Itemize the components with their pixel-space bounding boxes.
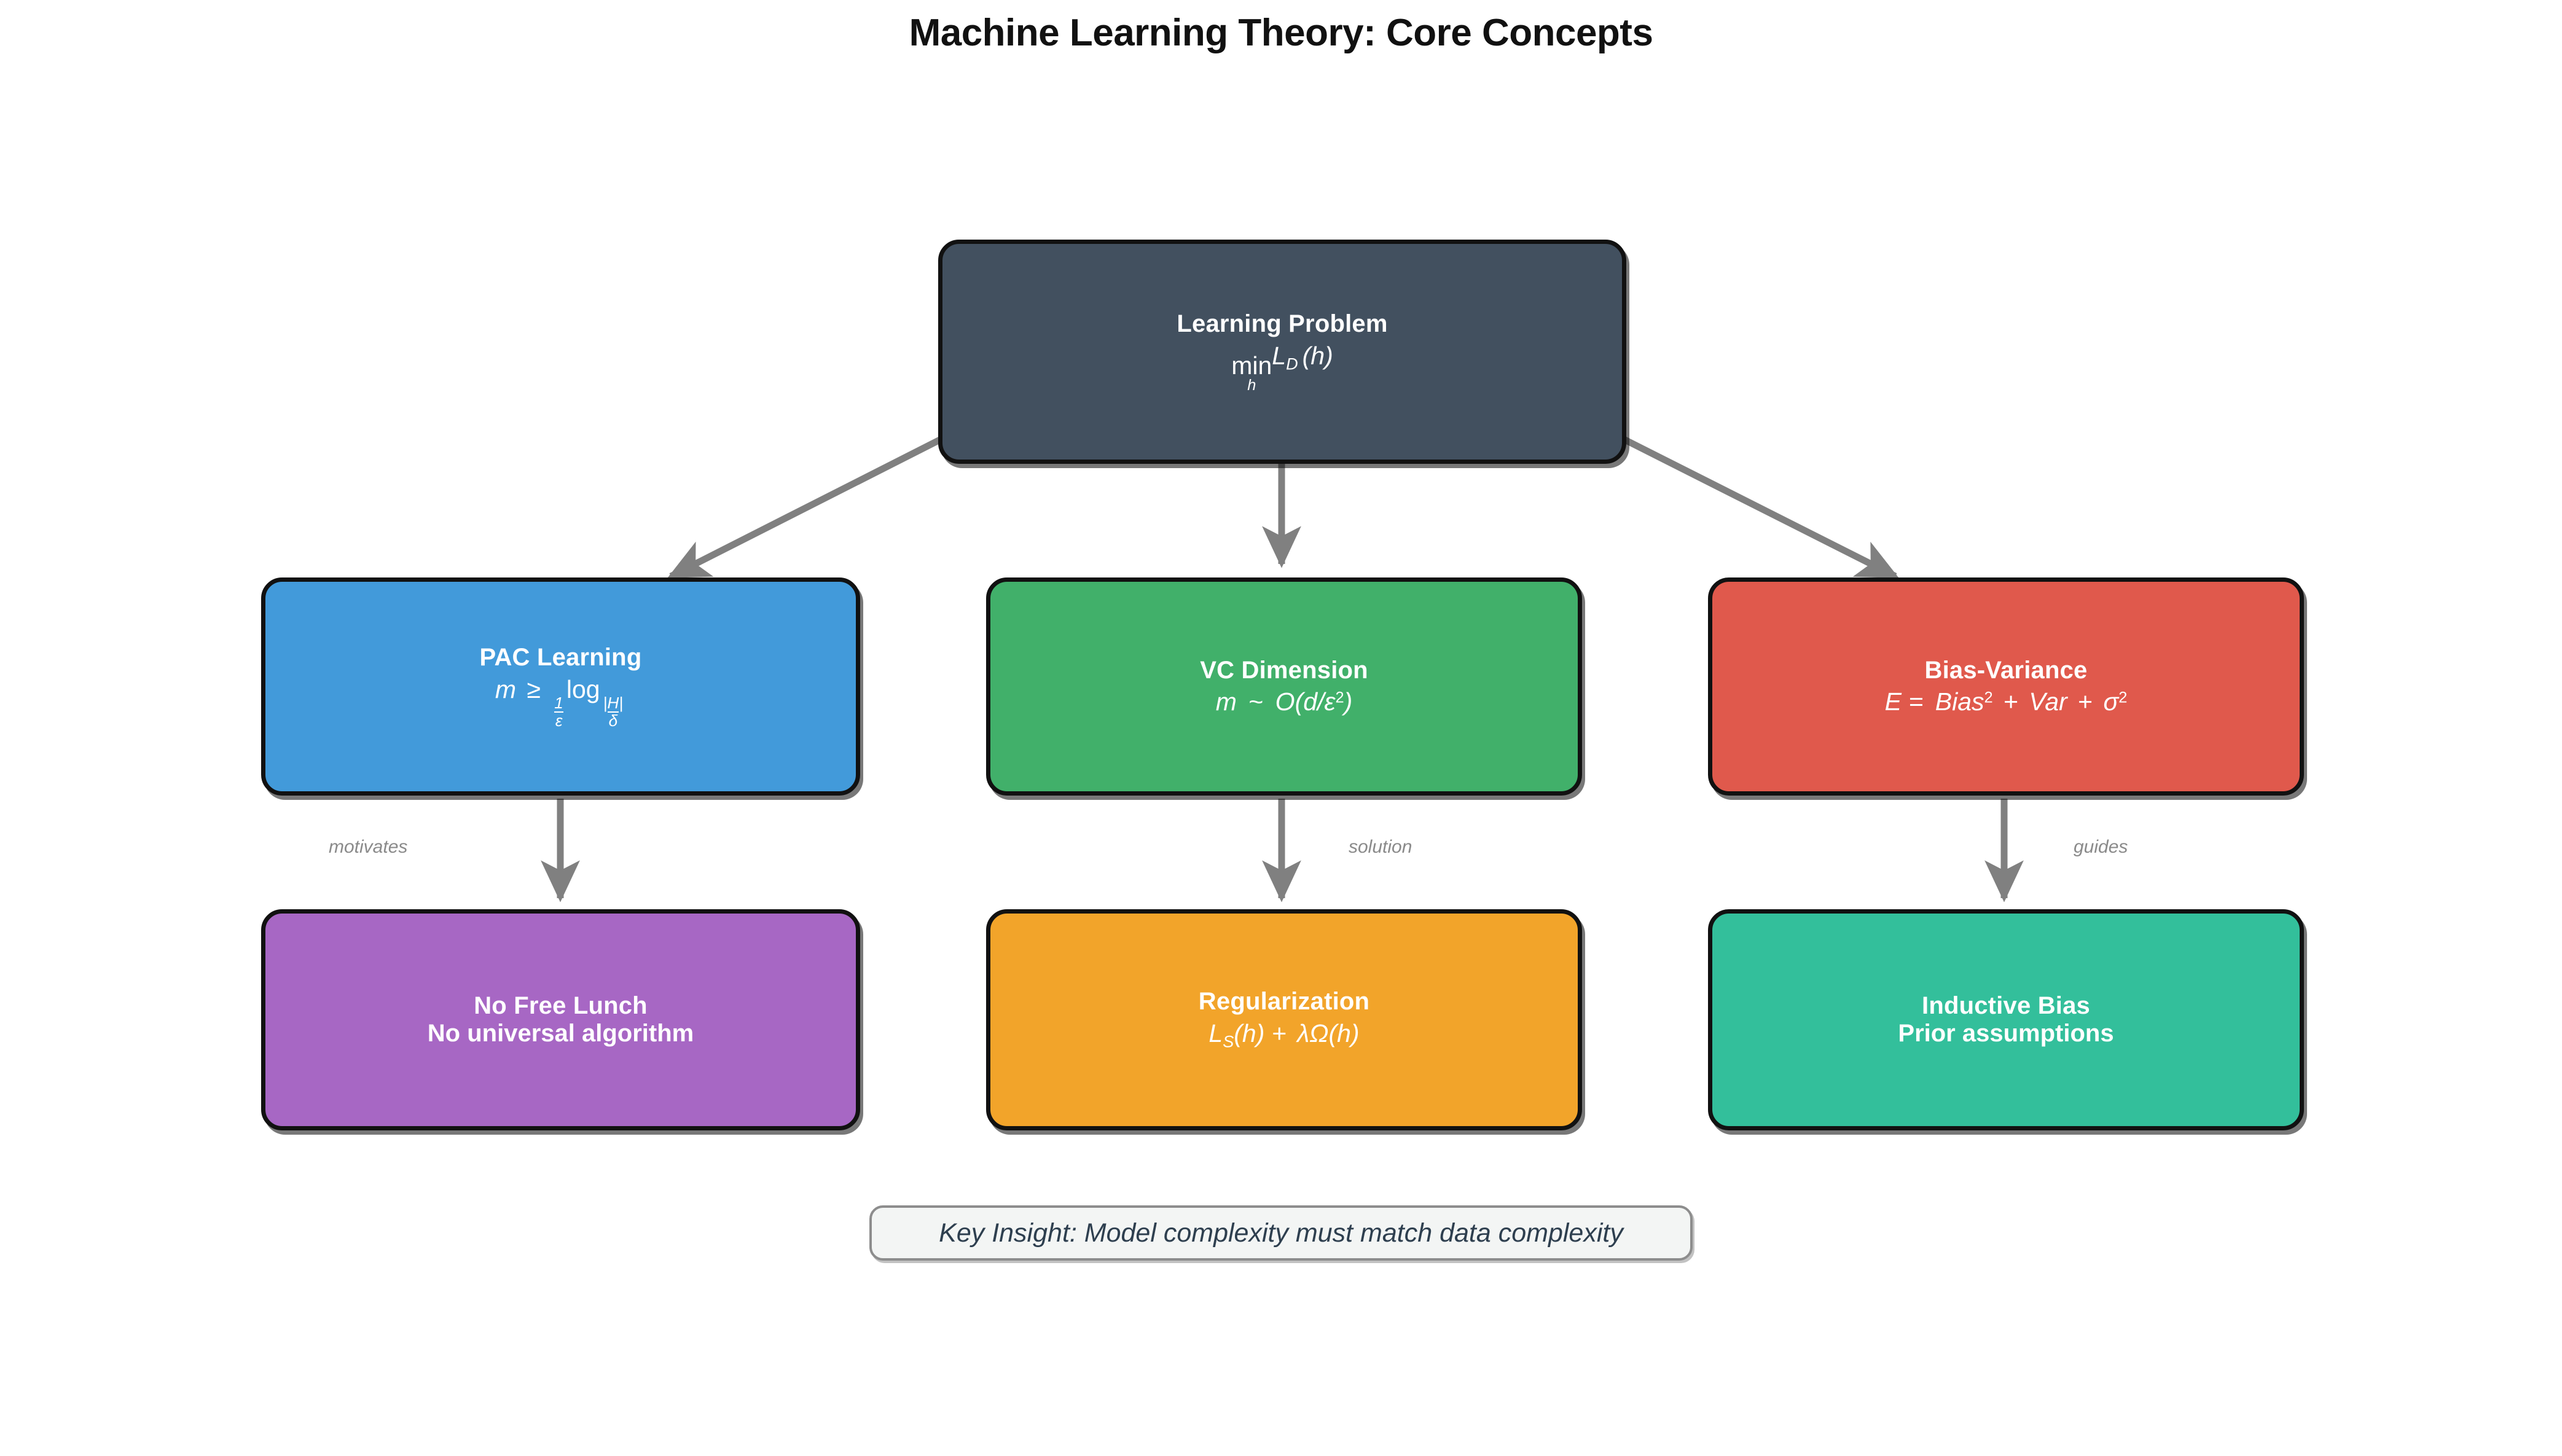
formula-log: log xyxy=(566,675,600,703)
node-subtitle: No universal algorithm xyxy=(428,1020,694,1047)
node-vc-dimension[interactable]: VC Dimension m ~ O(d/ε2) xyxy=(986,577,1582,796)
formula-L-subscript: D xyxy=(1286,354,1298,373)
formula-arg: (h) + xyxy=(1234,1019,1286,1047)
formula-exponent: 2 xyxy=(2118,689,2127,706)
diagram-canvas: Machine Learning Theory: Core Concepts L… xyxy=(0,0,2562,1456)
node-formula-regularization: LS(h) + λΩ(h) xyxy=(1209,1019,1359,1052)
formula-m: m xyxy=(495,675,516,703)
formula-fraction-h-delta: |H| δ xyxy=(602,695,625,729)
edge-label-guides: guides xyxy=(2074,837,2128,858)
formula-plus: + xyxy=(2004,687,2018,716)
formula-min-op: min xyxy=(1231,353,1272,378)
formula-fraction-one-epsilon: 1 ε xyxy=(553,695,565,729)
node-inductive-bias[interactable]: Inductive Bias Prior assumptions xyxy=(1708,909,2304,1130)
formula-min-subscript: h xyxy=(1247,378,1256,393)
formula-L-subscript: S xyxy=(1223,1033,1234,1051)
edge-label-solution: solution xyxy=(1349,837,1412,858)
node-formula-bias-variance: E = Bias2 + Var + σ2 xyxy=(1885,687,2128,716)
formula-exponent: 2 xyxy=(1984,689,1993,706)
key-insight-text: Key Insight: Model complexity must match… xyxy=(939,1218,1623,1248)
node-title: No Free Lunch xyxy=(474,992,648,1020)
node-title: Learning Problem xyxy=(1177,310,1387,338)
node-title: Regularization xyxy=(1199,988,1369,1016)
formula-close-paren: ) xyxy=(1344,687,1353,716)
fraction-denominator: δ xyxy=(608,711,619,729)
node-title: PAC Learning xyxy=(480,644,642,671)
node-learning-problem[interactable]: Learning Problem min h LD(h) xyxy=(938,240,1626,464)
node-no-free-lunch[interactable]: No Free Lunch No universal algorithm xyxy=(261,909,860,1130)
fraction-denominator: ε xyxy=(554,711,564,729)
formula-sigma-term: σ xyxy=(2103,687,2118,716)
node-subtitle: Prior assumptions xyxy=(1898,1020,2113,1047)
formula-arg: (h) xyxy=(1303,342,1333,370)
fraction-numerator: 1 xyxy=(553,695,565,711)
formula-body: O(d/ε xyxy=(1275,687,1336,716)
node-title: VC Dimension xyxy=(1200,657,1368,684)
formula-bias-term: Bias xyxy=(1935,687,1984,716)
formula-L: L xyxy=(1272,342,1286,370)
key-insight-box: Key Insight: Model complexity must match… xyxy=(869,1205,1693,1261)
formula-L: L xyxy=(1209,1019,1223,1047)
node-pac-learning[interactable]: PAC Learning m ≥ 1 ε log |H| δ xyxy=(261,577,860,796)
node-title: Inductive Bias xyxy=(1922,992,2090,1020)
formula-exponent: 2 xyxy=(1335,689,1344,706)
node-bias-variance[interactable]: Bias-Variance E = Bias2 + Var + σ2 xyxy=(1708,577,2304,796)
formula-var-term: Var xyxy=(2029,687,2067,716)
node-formula-vc-dimension: m ~ O(d/ε2) xyxy=(1216,687,1352,716)
fraction-numerator: |H| xyxy=(602,695,625,711)
node-regularization[interactable]: Regularization LS(h) + λΩ(h) xyxy=(986,909,1582,1130)
formula-relation: ≥ xyxy=(527,675,541,703)
formula-lambda-omega: λΩ(h) xyxy=(1297,1019,1359,1047)
formula-m: m xyxy=(1216,687,1237,716)
node-formula-learning-problem: min h LD(h) xyxy=(1231,342,1333,393)
node-title: Bias-Variance xyxy=(1925,657,2088,684)
edge-label-motivates: motivates xyxy=(329,837,407,858)
node-formula-pac-learning: m ≥ 1 ε log |H| δ xyxy=(495,675,626,729)
formula-relation: ~ xyxy=(1248,687,1263,716)
formula-plus: + xyxy=(2078,687,2093,716)
formula-lhs: E = xyxy=(1885,687,1924,716)
